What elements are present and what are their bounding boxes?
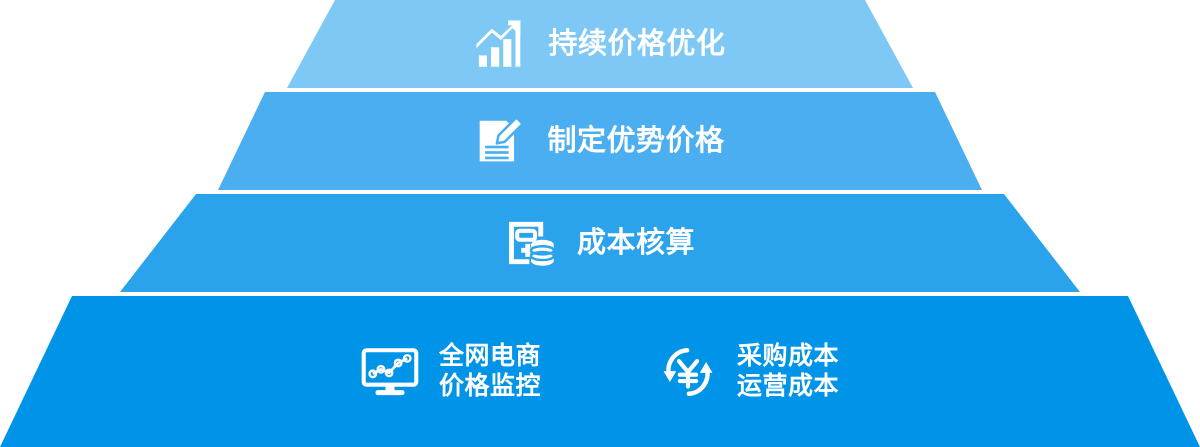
coin-stack bbox=[531, 240, 554, 266]
tier-4-item-1-label: 采购成本 运营成本 bbox=[737, 342, 839, 401]
tier-3-row: 成本核算 bbox=[150, 194, 1050, 292]
yuan-refresh-icon bbox=[659, 343, 717, 401]
tier-1-item-0-label: 持续价格优化 bbox=[548, 27, 725, 61]
tier-3-item-0[interactable]: 成本核算 bbox=[505, 217, 695, 269]
pyramid-diagram: 持续价格优化 制定优势价格 bbox=[0, 0, 1200, 447]
monitor-line-chart-icon bbox=[361, 343, 419, 401]
tier-4-item-1[interactable]: 采购成本 运营成本 bbox=[659, 342, 839, 401]
calculator-coins-icon bbox=[505, 217, 557, 269]
tier-2-row: 制定优势价格 bbox=[218, 92, 982, 190]
document-edit-icon bbox=[475, 116, 525, 166]
tier-4-item-0[interactable]: 全网电商 价格监控 bbox=[361, 342, 541, 401]
tier-2-item-0[interactable]: 制定优势价格 bbox=[475, 116, 724, 166]
tier-1-row: 持续价格优化 bbox=[287, 0, 913, 88]
tier-2-item-0-label: 制定优势价格 bbox=[547, 124, 724, 158]
tier-4-item-0-label: 全网电商 价格监控 bbox=[439, 342, 541, 401]
tier-3-item-0-label: 成本核算 bbox=[577, 226, 695, 260]
tier-1-item-0[interactable]: 持续价格优化 bbox=[474, 18, 725, 70]
tier-4-row: 全网电商 价格监控 采购成本 运营成本 bbox=[36, 296, 1164, 447]
growth-bar-chart-icon bbox=[474, 18, 526, 70]
